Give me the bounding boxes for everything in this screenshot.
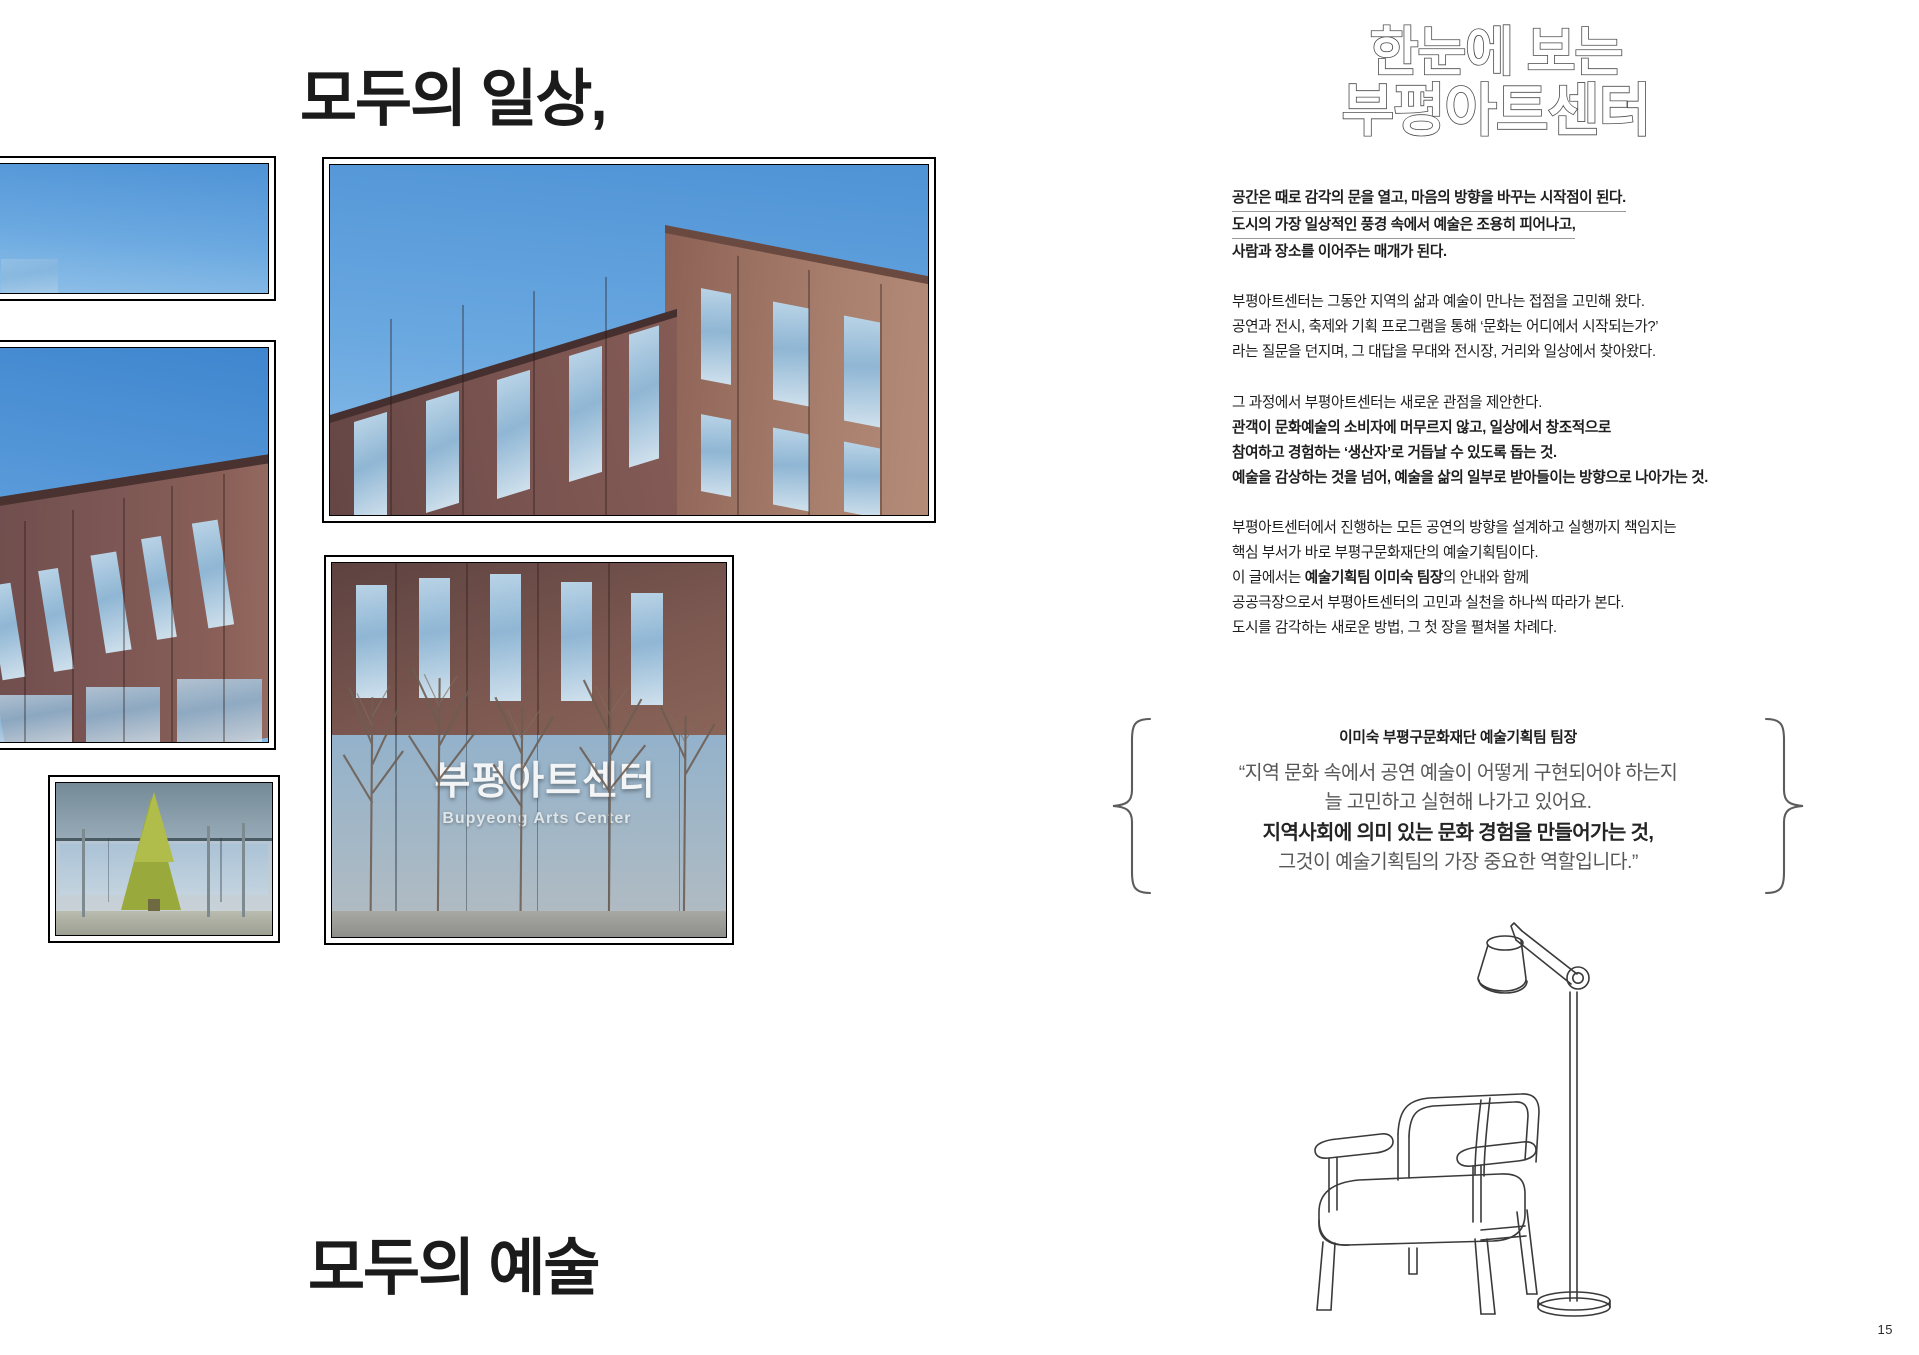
intro-line-1: 공간은 때로 감각의 문을 열고, 마음의 방향을 바꾸는 시작점이 된다. [1232,186,1626,212]
photo-building-corner [322,157,936,523]
para3-bold-line-3: 예술을 감상하는 것을 넘어, 예술을 삶의 일부로 받아들이는 방향으로 나아… [1232,466,1752,491]
para4-line-1: 부평아트센터에서 진행하는 모든 공연의 방향을 설계하고 실행까지 책임지는 [1232,516,1752,541]
intro-line-3: 사람과 장소를 이어주는 매개가 된다. [1232,244,1447,260]
para3-bold-line-2: 참여하고 경험하는 ‘생산자’로 거듭날 수 있도록 돕는 것. [1232,441,1752,466]
quote-line-4: 그것이 예술기획팀의 가장 중요한 역할입니다.” [1164,848,1752,877]
photo-building-facade-left [0,340,276,750]
quote-attrib-name: 이미숙 [1339,730,1379,746]
para4-line-4: 공공극장으로서 부평아트센터의 고민과 실천을 하나씩 따라가 본다. [1232,591,1752,616]
page-title-top: 모두의 일상, [300,48,606,138]
paragraph-3: 그 과정에서 부평아트센터는 새로운 관점을 제안한다. 관객이 문화예술의 소… [1232,391,1752,491]
floor-lamp-icon [1478,923,1610,1316]
armchair-icon [1315,1094,1539,1314]
quote-attrib-role: 부평구문화재단 예술기획팀 팀장 [1379,730,1577,746]
pull-quote-content: 이미숙 부평구문화재단 예술기획팀 팀장 “지역 문화 속에서 공연 예술이 어… [1164,726,1752,877]
para4-line-3-post: 의 안내와 함께 [1443,570,1529,586]
para2-line-3: 라는 질문을 던지며, 그 대답을 무대와 전시장, 거리와 일상에서 찾아왔다… [1232,340,1752,365]
photo-sky-top-left [0,156,276,301]
brace-left-icon [1108,716,1154,896]
quote-line-1: “지역 문화 속에서 공연 예술이 어떻게 구현되어야 하는지 [1164,759,1752,788]
para2-line-2: 공연과 전시, 축제와 기획 프로그램을 통해 ‘문화는 어디에서 시작되는가?… [1232,315,1752,340]
para4-line-2: 핵심 부서가 바로 부평구문화재단의 예술기획팀이다. [1232,541,1752,566]
quote-line-2: 늘 고민하고 실현해 나가고 있어요. [1164,788,1752,817]
brace-right-icon [1762,716,1808,896]
paragraph-2: 부평아트센터는 그동안 지역의 삶과 예술이 만나는 접점을 고민해 왔다. 공… [1232,290,1752,365]
page-number: 15 [1878,1322,1893,1337]
para4-line-5: 도시를 감각하는 새로운 방법, 그 첫 장을 펼쳐볼 차례다. [1232,616,1752,641]
para4-line-3-bold: 예술기획팀 이미숙 팀장 [1305,570,1443,586]
para4-line-3: 이 글에서는 예술기획팀 이미숙 팀장의 안내와 함께 [1232,566,1752,591]
article-body: 공간은 때로 감각의 문을 열고, 마음의 방향을 바꾸는 시작점이 된다. 도… [1232,186,1752,641]
para3-bold-line-1: 관객이 문화예술의 소비자에 머무르지 않고, 일상에서 창조적으로 [1232,416,1752,441]
intro-paragraph: 공간은 때로 감각의 문을 열고, 마음의 방향을 바꾸는 시작점이 된다. 도… [1232,186,1752,265]
armchair-and-floor-lamp-illustration [1285,912,1715,1327]
pull-quote-block: 이미숙 부평구문화재단 예술기획팀 팀장 “지역 문화 속에서 공연 예술이 어… [1108,716,1808,896]
magazine-page: 모두의 일상, 모두의 예술 [0,0,1919,1355]
para2-line-1: 부평아트센터는 그동안 지역의 삶과 예술이 만나는 접점을 고민해 왔다. [1232,290,1752,315]
quote-attribution: 이미숙 부평구문화재단 예술기획팀 팀장 [1164,726,1752,747]
outlined-title-line1: 한눈에 보는 [1286,26,1706,80]
outlined-title-line2: 부평아트센터 [1286,82,1706,140]
paragraph-4: 부평아트센터에서 진행하는 모든 공연의 방향을 설계하고 실행까지 책임지는 … [1232,516,1752,641]
photo-conifer-tree [48,775,280,943]
intro-line-2: 도시의 가장 일상적인 풍경 속에서 예술은 조용히 피어나고, [1232,213,1575,239]
outlined-title: 한눈에 보는 부평아트센터 [1286,26,1706,140]
para3-line-1: 그 과정에서 부평아트센터는 새로운 관점을 제안한다. [1232,391,1752,416]
para4-line-3-pre: 이 글에서는 [1232,570,1305,586]
quote-line-3: 지역사회에 의미 있는 문화 경험을 만들어가는 것, [1164,818,1752,848]
page-title-bottom: 모두의 예술 [308,1217,598,1307]
photo-building-signage: 부평아트센터 Bupyeong Arts Center [324,555,734,945]
